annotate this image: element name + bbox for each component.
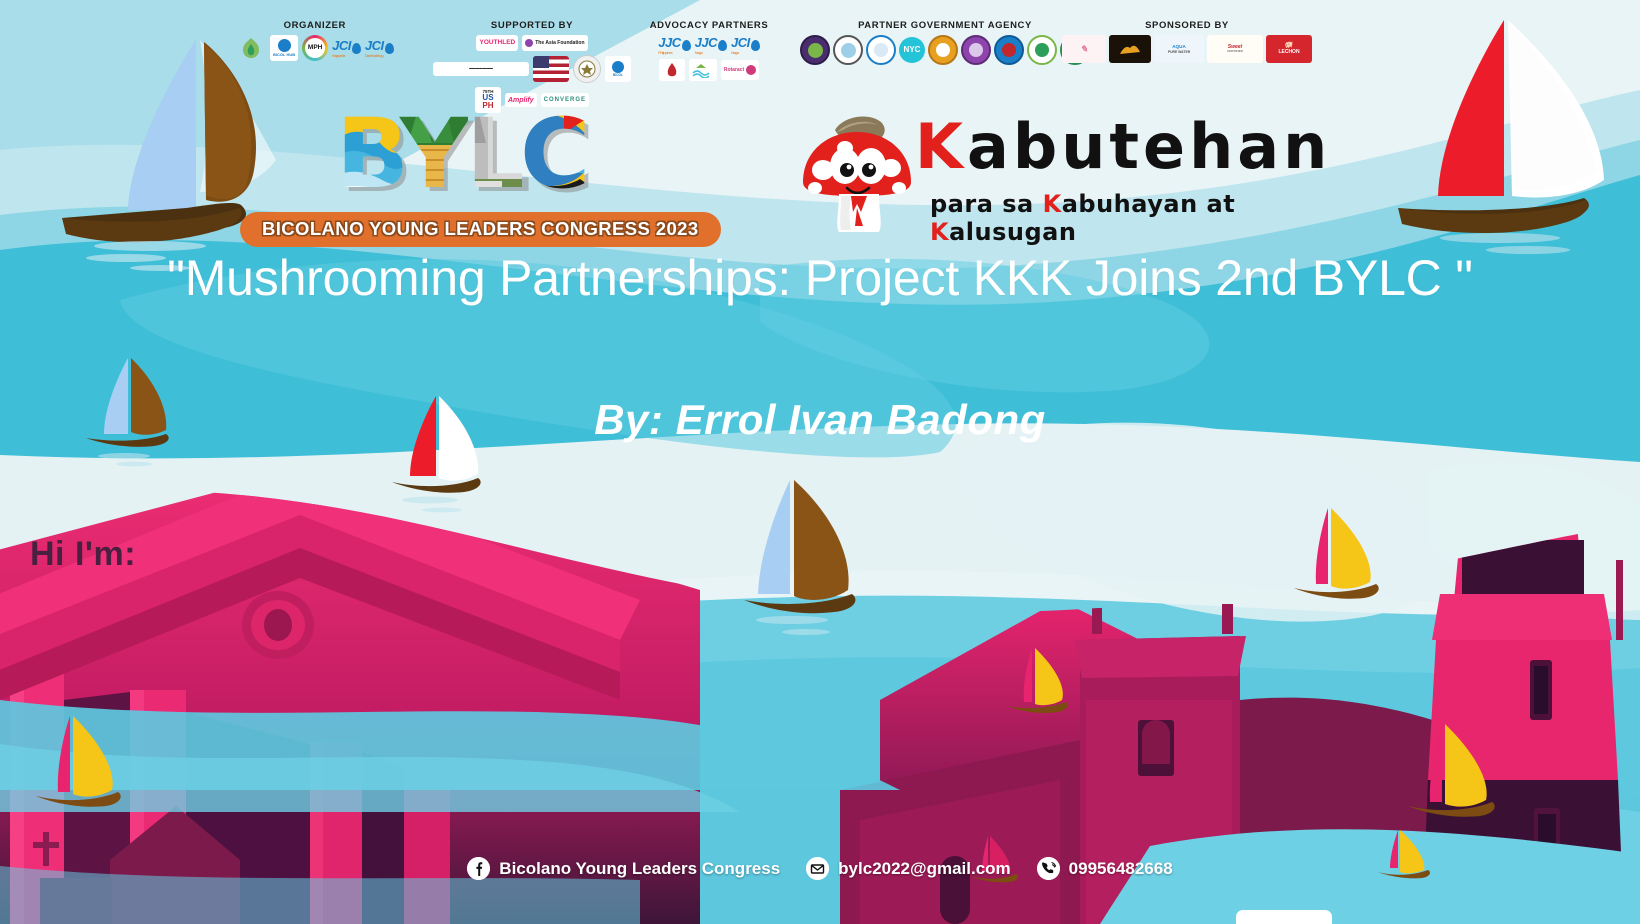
credit-group-supported-by: SUPPORTED BY YOUTHLED The Asia Foundatio…: [432, 20, 632, 113]
wave-partner-logo: [689, 59, 717, 81]
rotaract-logo: Rotaract: [721, 60, 759, 80]
phone-icon: [1037, 857, 1060, 880]
sailboat-yellow-left: [36, 716, 121, 807]
credit-group-advocacy-partners: ADVOCACY PARTNERS JJCPhilippines JJCNaga…: [644, 20, 774, 81]
bicol-hub-logo: BICOL HUB: [270, 35, 298, 61]
gov-seal-8: [1027, 35, 1057, 65]
credit-heading: PARTNER GOVERNMENT AGENCY: [800, 20, 1090, 31]
footer-phone-label: 09956482668: [1069, 859, 1173, 879]
lechon-sponsor-logo: 🐖LECHON: [1266, 35, 1312, 63]
slide-byline: By: Errol Ivan Badong: [140, 396, 1500, 444]
jci-naga-partner-logo: JCINaga: [731, 35, 760, 55]
credit-group-sponsored-by: SPONSORED BY ✎ AQUAPURE WATER SweetCERTI…: [1062, 20, 1312, 63]
usph-75-logo: 75TH US PH: [475, 87, 501, 113]
asia-foundation-logo: The Asia Foundation: [522, 35, 587, 51]
partner-banner-logo: ▬▬▬▬▬▬▬: [433, 62, 529, 76]
sponsor-script-logo: ✎: [1062, 35, 1106, 63]
credit-logo-row: ✎ AQUAPURE WATER SweetCERTIFIED 🐖LECHON: [1062, 35, 1312, 63]
credit-logo-row: BICOL HUB MPH JCINagueña JCIDaet Kabihug: [236, 35, 394, 61]
footer-email-label: bylc2022@gmail.com: [838, 859, 1011, 879]
nyc-seal: NYC: [899, 37, 925, 63]
youthled-logo: YOUTHLED: [476, 35, 518, 51]
jci-naga-logo: JCINagueña: [332, 38, 361, 58]
gov-seal-2: [833, 35, 863, 65]
footer-facebook: Bicolano Young Leaders Congress: [467, 857, 780, 880]
jjc-naga-logo: JJCNaga: [695, 35, 727, 55]
footer-facebook-label: Bicolano Young Leaders Congress: [499, 859, 780, 879]
footer-email: bylc2022@gmail.com: [806, 857, 1011, 880]
mushroom-mascot-icon: [795, 108, 925, 233]
sponsor-credits-bar: ORGANIZER BICOL HUB MPH JCINagueña JCIDa…: [0, 0, 1640, 96]
gov-seal-5: [928, 35, 958, 65]
us-flag-logo: [533, 56, 569, 82]
jjc-partner-logo: JJCPhilippines: [658, 35, 690, 55]
kabutehan-tagline: para sa Kabuhayan at Kalusugan: [930, 190, 1325, 246]
facebook-icon: [467, 857, 490, 880]
gov-seal-3: [866, 35, 896, 65]
sailboat-yellow-mid: [1008, 648, 1068, 713]
sailboat-bottom-right: [1408, 724, 1495, 817]
bottom-tab-indicator: [1236, 910, 1332, 924]
sailboat-center: [744, 480, 855, 635]
kabukid-logo: [659, 59, 685, 81]
presentation-slide: ORGANIZER BICOL HUB MPH JCINagueña JCIDa…: [0, 0, 1640, 924]
footer-phone: 09956482668: [1037, 857, 1173, 880]
contact-footer: Bicolano Young Leaders Congress bylc2022…: [0, 857, 1640, 880]
gov-seal-7: [994, 35, 1024, 65]
bicol-seal-logo: BICOL: [605, 56, 631, 82]
gov-seal-1: [800, 35, 830, 65]
credit-heading: SPONSORED BY: [1062, 20, 1312, 31]
greeting-text: Hi I'm:: [30, 535, 136, 574]
credit-logo-row: NYC: [800, 35, 1090, 65]
credit-heading: SUPPORTED BY: [432, 20, 632, 31]
bylc-banner: BICOLANO YOUNG LEADERS CONGRESS 2023: [240, 212, 721, 247]
bylc-event-logo: B Y L C BYLC: [334, 103, 624, 208]
kabutehan-wordmark: Kabutehan: [915, 116, 1331, 178]
gov-seal-6: [961, 35, 991, 65]
credit-logo-row: YOUTHLED The Asia Foundation ▬▬▬▬▬▬▬ BIC…: [432, 35, 632, 113]
tree-org-logo: [236, 35, 266, 61]
credit-logo-row: JJCPhilippines JJCNaga JCINaga Rotaract: [644, 35, 774, 81]
bylc-letters: B Y L C BYLC: [334, 103, 624, 208]
credit-heading: ORGANIZER: [236, 20, 394, 31]
jci-kabihug-logo: JCIDaet Kabihug: [365, 38, 394, 58]
converge-logo: CONVERGE: [541, 93, 589, 107]
amplify-logo: Amplify: [505, 93, 537, 107]
slide-title: "Mushrooming Partnerships: Project KKK J…: [140, 250, 1500, 306]
credit-group-organizer: ORGANIZER BICOL HUB MPH JCINagueña JCIDa…: [236, 20, 394, 61]
mph-logo: MPH: [302, 35, 328, 61]
sponsor-dark-logo: [1109, 35, 1151, 63]
envelope-icon: [806, 857, 829, 880]
kabutehan-project-logo: Kabutehan para sa Kabuhayan at Kalusugan: [795, 108, 1325, 233]
aqua-sponsor-logo: AQUAPURE WATER: [1154, 35, 1204, 63]
credit-group-partner-government-agency: PARTNER GOVERNMENT AGENCY NYC: [800, 20, 1090, 65]
us-embassy-seal: [573, 55, 601, 83]
sponsor-cert-logo: SweetCERTIFIED: [1207, 35, 1263, 63]
credit-heading: ADVOCACY PARTNERS: [644, 20, 774, 31]
sailboat-pink-right: [1294, 508, 1379, 599]
